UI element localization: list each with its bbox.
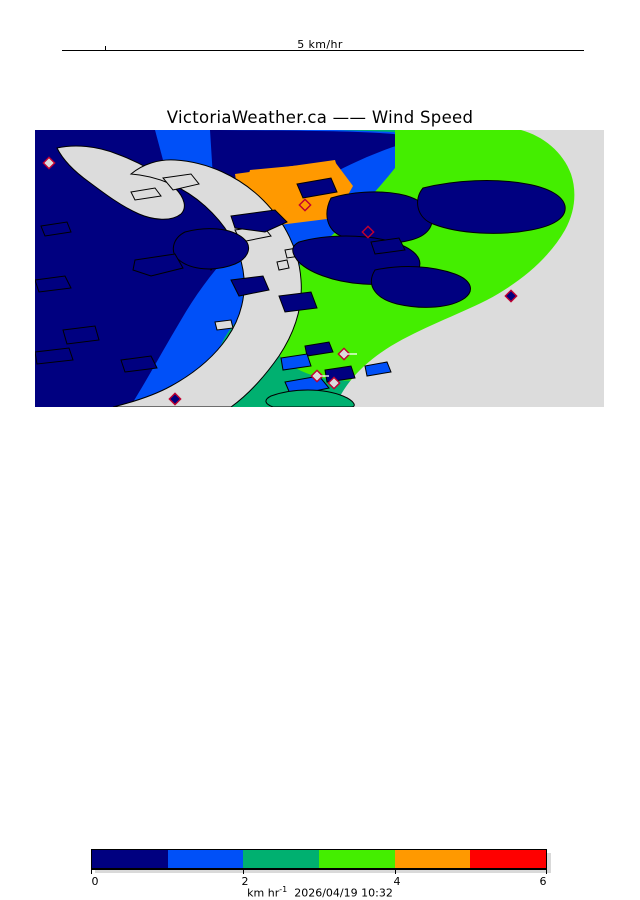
colorbar-strip[interactable]	[91, 849, 547, 869]
colorbar-tick-2	[243, 869, 244, 874]
wind-speed-map[interactable]	[35, 130, 604, 407]
land-inner-lake-3	[215, 320, 233, 330]
colorbar-segment-1	[168, 850, 244, 868]
colorbar-units-and-timestamp: km hr-1 2026/04/19 10:32	[0, 885, 640, 900]
scale-bar-tick	[105, 46, 106, 51]
colorbar-segment-4	[395, 850, 471, 868]
land-inner-lake-2	[277, 260, 289, 270]
colorbar-segment-3	[319, 850, 395, 868]
colorbar-segment-5	[470, 850, 546, 868]
island-e2	[418, 181, 566, 234]
timestamp-label: 2026/04/19 10:32	[294, 887, 393, 900]
map-canvas	[35, 130, 604, 407]
colorbar-segment-0	[92, 850, 168, 868]
colorbar-segment-2	[243, 850, 319, 868]
scale-bar-line	[62, 50, 584, 51]
island-e9	[279, 292, 317, 312]
scale-bar: 5 km/hr	[0, 0, 640, 70]
page-title: VictoriaWeather.ca —— Wind Speed	[0, 108, 640, 127]
island-e6	[173, 229, 248, 269]
colorbar-units-exponent: -1	[279, 885, 287, 894]
colorbar-units-text: km hr	[247, 887, 279, 900]
colorbar-legend: 0 2 4 6 km hr-1 2026/04/19 10:32	[0, 420, 640, 480]
colorbar-tick-6	[546, 869, 547, 874]
colorbar-tick-4	[395, 869, 396, 874]
colorbar-tick-0	[91, 869, 92, 874]
colorbar-axis-line	[91, 869, 547, 870]
